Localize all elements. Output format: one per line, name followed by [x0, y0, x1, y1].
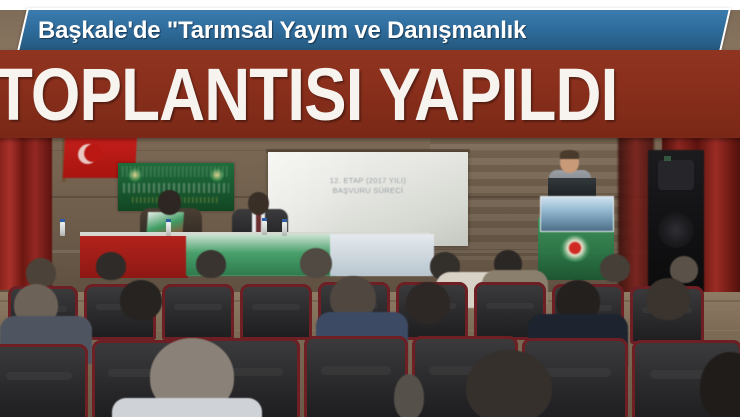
water-bottle: [282, 222, 287, 236]
panelist-right-head: [248, 192, 269, 215]
audience-head: [300, 248, 332, 278]
screen-text-line-1: 12. ETAP (2017 YILI): [268, 176, 468, 186]
bottle-cap: [60, 219, 65, 222]
chair: [162, 284, 234, 340]
screen-text-line-2: BAŞVURU SÜRECİ: [268, 186, 468, 196]
water-bottle: [60, 222, 65, 236]
kicker-text: Başkale'de "Tarımsal Yayım ve Danışmanlı…: [38, 17, 728, 47]
bottle-cap: [262, 218, 267, 221]
laptop: [548, 178, 596, 198]
audience-head: [394, 374, 424, 417]
news-header-image: 12. ETAP (2017 YILI) BAŞVURU SÜRECİ: [0, 0, 740, 417]
podium-emblem: [560, 234, 590, 262]
chair: [240, 284, 312, 340]
speaker-led: [664, 156, 671, 161]
audience-head: [646, 278, 690, 320]
speaker-driver-top: [658, 160, 694, 190]
flag-crescent-inner: [84, 144, 103, 162]
audience-head: [120, 280, 162, 320]
bottle-cap: [166, 219, 171, 222]
audience-head: [600, 254, 630, 282]
podium-speaker-hair: [560, 150, 579, 159]
kicker-banner: Başkale'de "Tarımsal Yayım ve Danışmanlı…: [0, 8, 740, 52]
audience-head: [196, 250, 226, 278]
bottle-cap: [282, 219, 287, 222]
water-bottle: [262, 221, 267, 235]
banner-text-line-1: [122, 166, 230, 177]
audience-head: [406, 282, 450, 324]
audience-head: [96, 252, 126, 280]
audience-head: [466, 350, 552, 417]
audience-shoulders: [112, 398, 262, 417]
headline-text: TOPLANTISI YAPILDI: [0, 53, 648, 137]
water-bottle: [166, 222, 171, 236]
table-cloth-blue: [330, 234, 434, 276]
podium-photo-panel: [540, 196, 614, 232]
chair: [0, 344, 88, 417]
chair: [304, 336, 408, 417]
speaker-driver-bottom: [658, 212, 694, 248]
panelist-left-head: [158, 190, 181, 215]
